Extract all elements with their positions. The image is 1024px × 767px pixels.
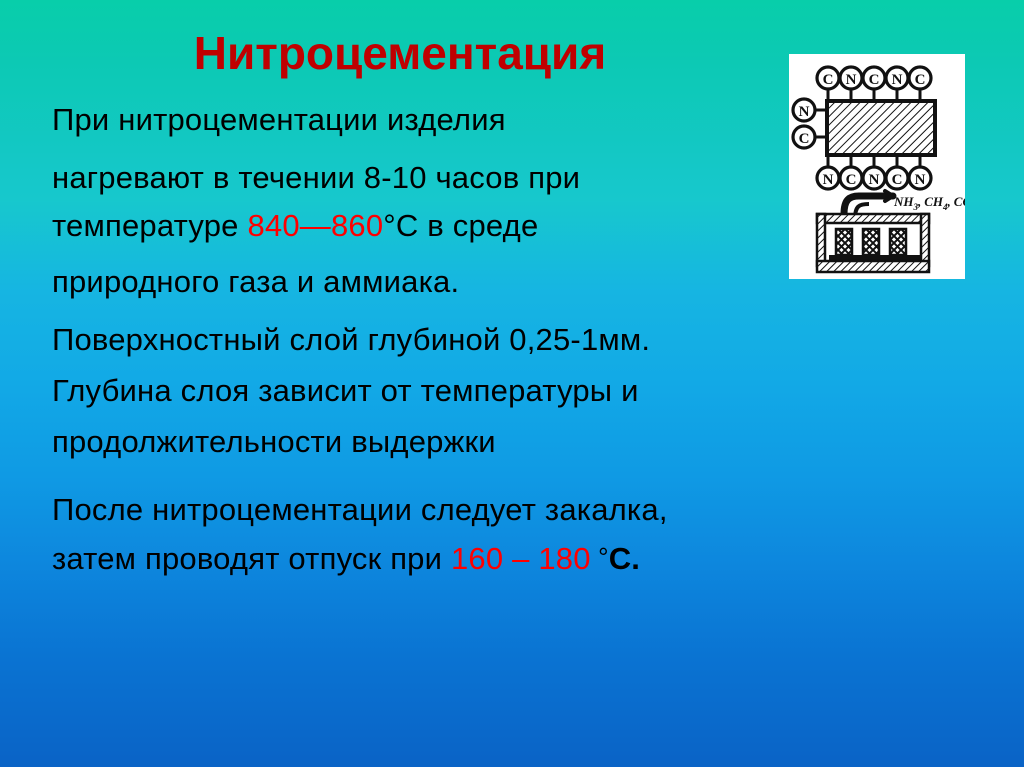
- nitrocarburizing-diagram-image: C N C N C N C: [789, 54, 965, 279]
- body-line-3-suffix: в среде: [418, 208, 538, 243]
- furnace-part-1: [836, 229, 852, 255]
- tempering-degree-sign: °: [591, 542, 609, 572]
- temperature-unit: °C: [383, 208, 418, 243]
- tempering-unit: С.: [609, 541, 640, 576]
- atom-label-top-1: C: [823, 72, 834, 88]
- gas-label-nh: NH: [893, 194, 914, 209]
- atom-label-left-2: C: [799, 131, 810, 147]
- atom-label-top-3: C: [869, 72, 880, 88]
- atom-label-bottom-5: N: [915, 172, 926, 188]
- body-line-9: затем проводят отпуск при 160 – 180 °С.: [52, 543, 982, 574]
- body-line-9-prefix: затем проводят отпуск при: [52, 541, 451, 576]
- furnace-base: [817, 261, 929, 272]
- slide-canvas: Нитроцементация При нитроцементации изде…: [0, 0, 1024, 767]
- temperature-range-value: 840—860: [247, 208, 383, 243]
- atom-label-top-5: C: [915, 72, 926, 88]
- body-line-5: Поверхностный слой глубиной 0,25-1мм.: [52, 324, 982, 355]
- atom-label-left-1: N: [799, 104, 810, 120]
- furnace-part-3: [890, 229, 906, 255]
- body-line-3-prefix: температуре: [52, 208, 247, 243]
- atom-label-bottom-3: N: [869, 172, 880, 188]
- atom-label-bottom-1: N: [823, 172, 834, 188]
- atom-label-bottom-2: C: [846, 172, 857, 188]
- body-line-8: После нитроцементации следует закалка,: [52, 494, 982, 525]
- furnace-lid: [817, 214, 929, 223]
- furnace-part-2: [863, 229, 879, 255]
- furnace-wall-left: [817, 214, 825, 266]
- furnace-wall-right: [921, 214, 929, 266]
- gas-label-co: CO: [954, 194, 965, 209]
- diagram-svg: C N C N C N C: [789, 54, 965, 279]
- tempering-range-value: 160 – 180: [451, 541, 591, 576]
- gas-label-comma2: ,: [947, 194, 951, 209]
- body-line-6: Глубина слоя зависит от температуры и: [52, 375, 982, 406]
- atom-row-bottom: N C N C N: [817, 167, 931, 189]
- atom-label-top-4: N: [892, 72, 903, 88]
- body-line-7: продолжительности выдержки: [52, 426, 982, 457]
- gas-label-ch: CH: [924, 194, 944, 209]
- page-title: Нитроцементация: [40, 28, 760, 79]
- atom-label-bottom-4: C: [892, 172, 903, 188]
- steel-workpiece-block: [827, 101, 935, 155]
- atom-label-top-2: N: [846, 72, 857, 88]
- gas-label-comma1: ,: [917, 194, 921, 209]
- atom-row-top: C N C N C: [817, 67, 931, 89]
